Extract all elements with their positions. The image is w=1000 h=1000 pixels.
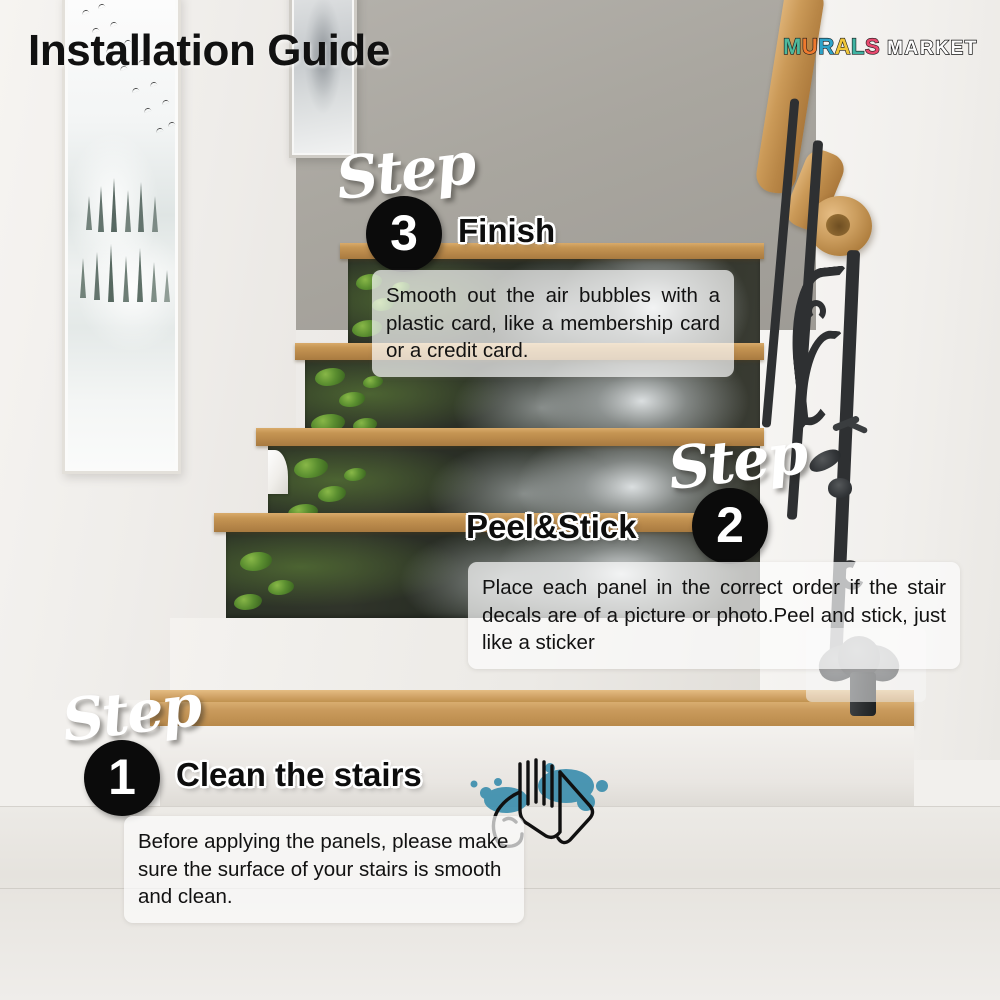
peeling-corner	[268, 450, 288, 494]
step-1-body: Before applying the panels, please make …	[124, 816, 524, 923]
logo-letter-a: A	[835, 36, 851, 58]
step-2-body: Place each panel in the correct order if…	[468, 562, 960, 669]
brand-logo[interactable]: M U R A L S MARKET	[783, 36, 978, 58]
step-2-number-badge: 2	[692, 488, 768, 564]
stair-tread-1	[150, 700, 914, 726]
step-2-word: Step	[665, 424, 809, 498]
logo-letter-u: U	[802, 36, 818, 58]
installation-guide-graphic: Installation Guide M U R A L S MARKET St…	[0, 0, 1000, 1000]
step-2-number: 2	[716, 500, 744, 553]
grey-abstract-art	[294, 0, 352, 153]
iron-leaf-bud	[828, 478, 852, 498]
logo-letter-r: R	[818, 36, 834, 58]
logo-murals-word: M U R A L S	[783, 36, 880, 58]
logo-letter-l: L	[851, 36, 865, 58]
logo-letter-s: S	[865, 36, 880, 58]
iron-scroll-small	[806, 300, 826, 322]
logo-market-word: MARKET	[887, 39, 978, 58]
step-3-number-badge: 3	[366, 196, 442, 272]
step-3-heading: Finish	[458, 212, 555, 250]
step-1-number-badge: 1	[84, 740, 160, 816]
newel-base-collar	[850, 672, 876, 716]
logo-letter-m: M	[783, 36, 802, 58]
step-1-number: 1	[108, 752, 136, 805]
handrail-volute-center	[826, 214, 850, 236]
step-1-heading: Clean the stairs	[176, 756, 422, 794]
step-2-heading: Peel&Stick	[466, 508, 637, 546]
step-3-body: Smooth out the air bubbles with a plasti…	[372, 270, 734, 377]
step-3-number: 3	[390, 208, 418, 261]
bottom-step-nosing	[150, 690, 914, 702]
page-title: Installation Guide	[28, 26, 390, 76]
framed-artwork-grey	[289, 0, 357, 158]
step-1-word: Step	[59, 676, 203, 750]
